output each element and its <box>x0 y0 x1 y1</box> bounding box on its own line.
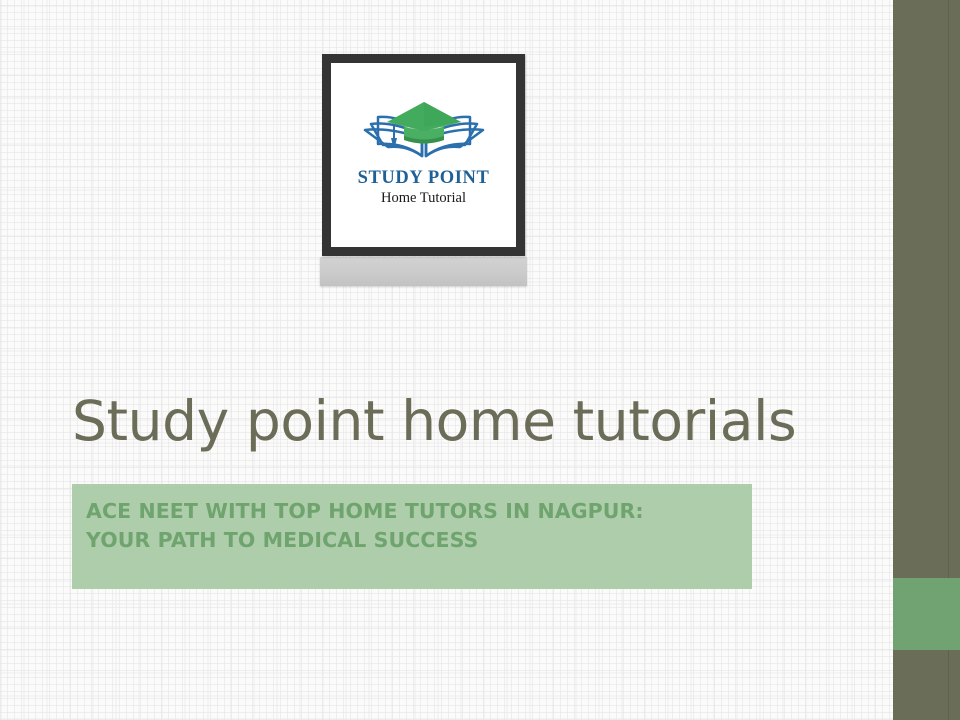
slide-title: Study point home tutorials <box>72 391 872 453</box>
monitor-base <box>320 257 527 286</box>
subtitle-line-2: YOUR PATH TO MEDICAL SUCCESS <box>86 526 734 555</box>
open-book-graduation-cap-icon <box>361 97 487 168</box>
sidebar-accent-bar <box>893 0 960 720</box>
logo-subtitle: Home Tutorial <box>381 191 466 207</box>
subtitle-line-1: ACE NEET WITH TOP HOME TUTORS IN NAGPUR: <box>86 497 734 526</box>
monitor-image: STUDY POINT Home Tutorial <box>322 54 525 256</box>
subtitle-box: ACE NEET WITH TOP HOME TUTORS IN NAGPUR:… <box>72 484 752 589</box>
study-point-logo: STUDY POINT Home Tutorial <box>331 63 516 247</box>
logo-title: STUDY POINT <box>358 169 490 188</box>
subtitle-text: ACE NEET WITH TOP HOME TUTORS IN NAGPUR:… <box>86 497 734 555</box>
sidebar-accent-band <box>893 578 960 650</box>
monitor-frame: STUDY POINT Home Tutorial <box>322 54 525 256</box>
slide-canvas: STUDY POINT Home Tutorial Study point ho… <box>0 0 960 720</box>
